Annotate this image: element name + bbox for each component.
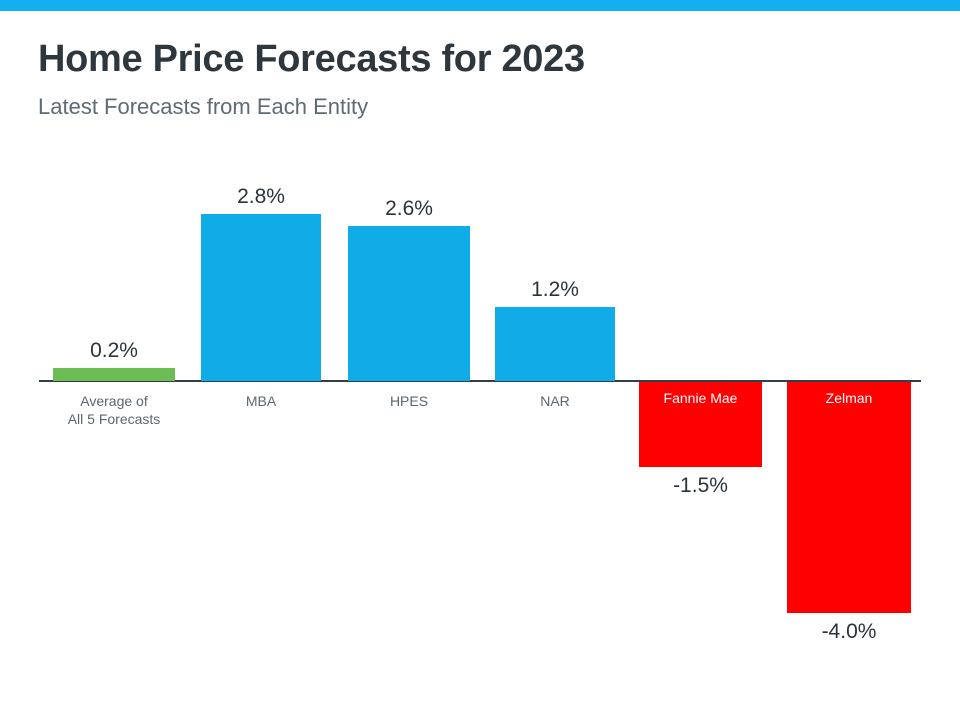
bar-category-label: MBA: [201, 392, 321, 410]
bar-chart-plot-area: 0.2%Average of All 5 Forecasts2.8%MBA2.6…: [0, 0, 960, 720]
bar-category-label: Average of All 5 Forecasts: [53, 392, 175, 428]
bar-group: -1.5%Fannie Mae: [639, 0, 762, 720]
bar-category-label: Fannie Mae: [639, 389, 762, 407]
bar-value-label: -1.5%: [639, 473, 762, 499]
bar-value-label: 0.2%: [53, 338, 175, 364]
bar-value-label: -4.0%: [787, 619, 911, 645]
bar[interactable]: [53, 368, 175, 381]
bar-category-label: HPES: [348, 392, 470, 410]
bar-group: 0.2%Average of All 5 Forecasts: [53, 0, 175, 720]
bar-value-label: 2.8%: [201, 184, 321, 210]
bar-group: 1.2%NAR: [495, 0, 615, 720]
bar-group: 2.8%MBA: [201, 0, 321, 720]
bar[interactable]: [348, 226, 470, 381]
bar-value-label: 2.6%: [348, 196, 470, 222]
bar-group: 2.6%HPES: [348, 0, 470, 720]
bar-category-label: Zelman: [787, 389, 911, 407]
bar-category-label: NAR: [495, 392, 615, 410]
bar-group: -4.0%Zelman: [787, 0, 911, 720]
bar[interactable]: [201, 214, 321, 381]
bar[interactable]: [495, 307, 615, 381]
bar[interactable]: [787, 382, 911, 613]
bar-value-label: 1.2%: [495, 277, 615, 303]
